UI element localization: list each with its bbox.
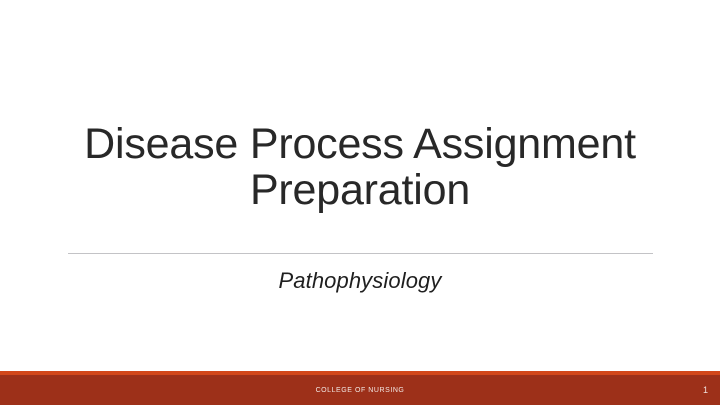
- subtitle-placeholder[interactable]: Pathophysiology: [68, 268, 652, 294]
- slide-canvas: Disease Process Assignment Preparation P…: [0, 0, 720, 405]
- page-title: Disease Process Assignment Preparation: [68, 122, 652, 213]
- slide-number: 1: [703, 375, 708, 405]
- title-divider-rule: [68, 253, 653, 254]
- page-subtitle: Pathophysiology: [68, 268, 652, 294]
- title-placeholder[interactable]: Disease Process Assignment Preparation: [68, 122, 652, 213]
- footer-organization-label: COLLEGE OF NURSING: [0, 375, 720, 405]
- footer-bar: COLLEGE OF NURSING 1: [0, 375, 720, 405]
